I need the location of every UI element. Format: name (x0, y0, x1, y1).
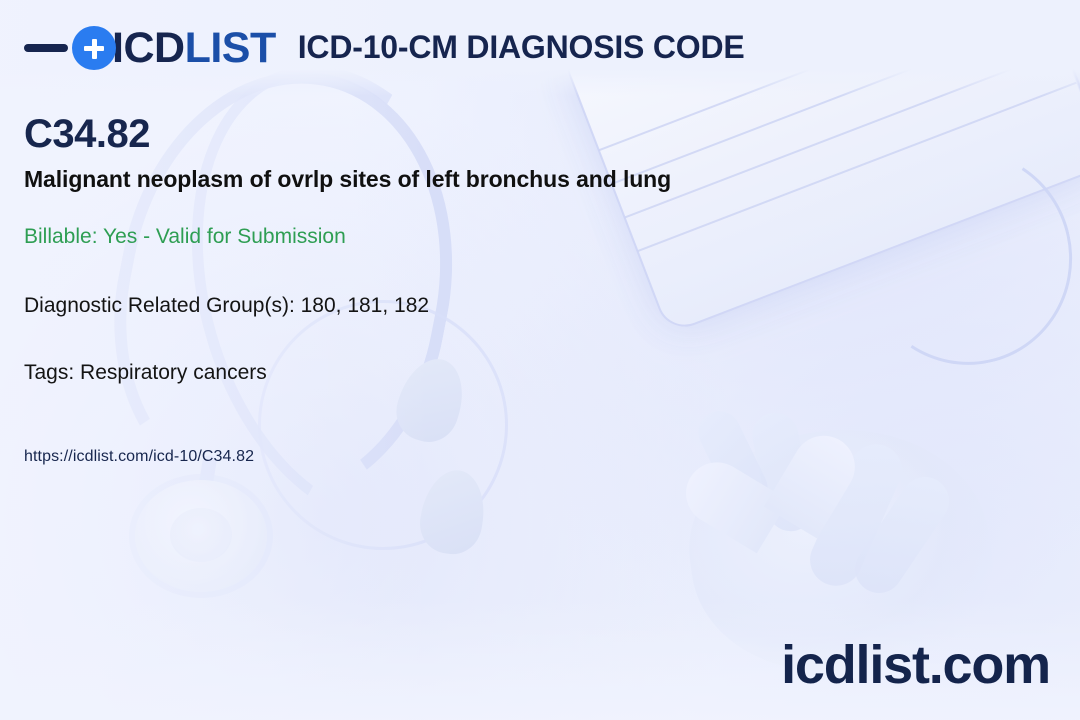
plus-circle-icon (72, 26, 116, 70)
billable-status: Billable: Yes - Valid for Submission (24, 224, 904, 249)
diagnosis-description: Malignant neoplasm of ovrlp sites of lef… (24, 165, 904, 194)
logo-word-list: LIST (185, 24, 276, 72)
dash-icon (24, 44, 68, 52)
tags-line: Tags: Respiratory cancers (24, 360, 904, 385)
code-details: C34.82 Malignant neoplasm of ovrlp sites… (24, 112, 904, 466)
card-content: ICDLIST ICD-10-CM DIAGNOSIS CODE C34.82 … (0, 0, 1080, 720)
header: ICDLIST ICD-10-CM DIAGNOSIS CODE (24, 26, 745, 70)
page-title: ICD-10-CM DIAGNOSIS CODE (298, 29, 745, 68)
brand-footer: icdlist.com (781, 638, 1050, 692)
diagnostic-related-groups: Diagnostic Related Group(s): 180, 181, 1… (24, 293, 904, 318)
icdlist-logo[interactable]: ICDLIST (24, 26, 276, 70)
logo-wordmark: ICDLIST (112, 27, 276, 70)
icd-code-card: ICDLIST ICD-10-CM DIAGNOSIS CODE C34.82 … (0, 0, 1080, 720)
source-url[interactable]: https://icdlist.com/icd-10/C34.82 (24, 447, 904, 466)
logo-word-icd: ICD (112, 24, 185, 72)
diagnosis-code: C34.82 (24, 112, 904, 157)
